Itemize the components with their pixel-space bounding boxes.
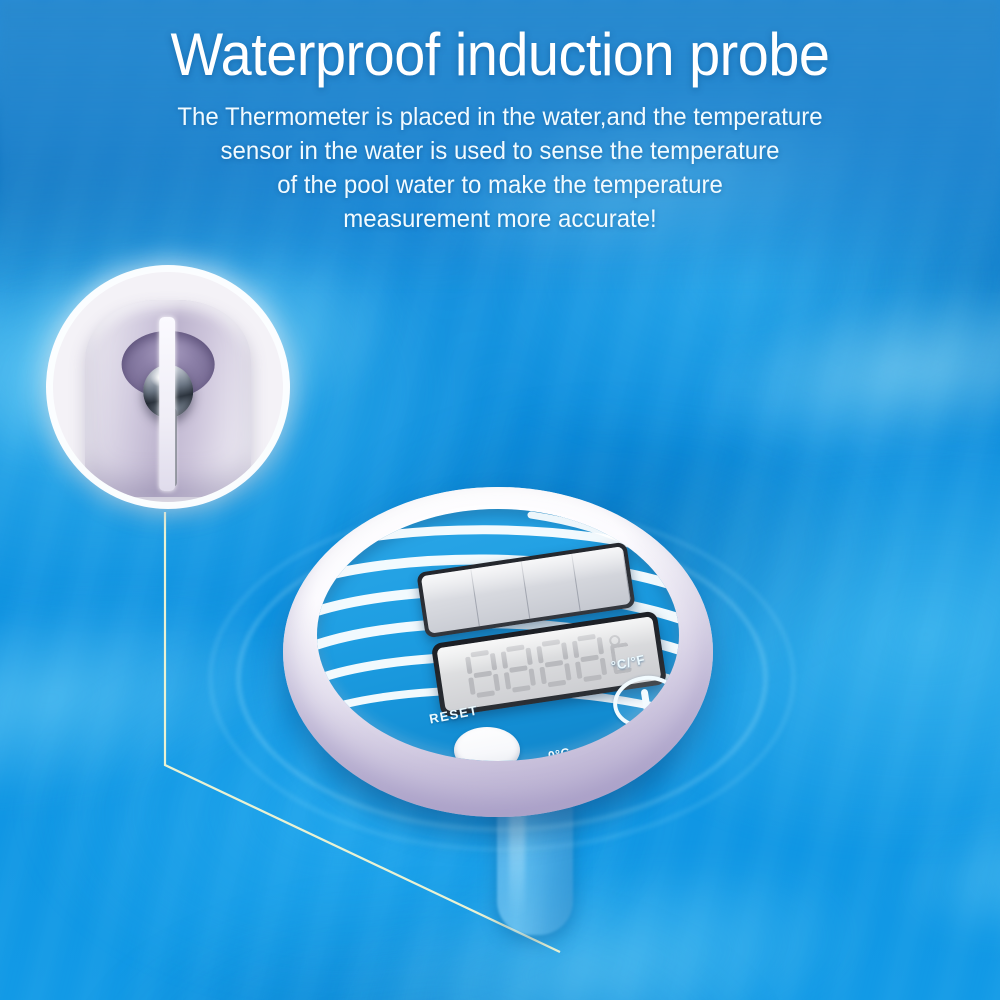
product-feature-image: Waterproof induction probe The Thermomet…: [0, 0, 1000, 1000]
floating-pool-thermometer: RESET 0°C ~ +50°C , 32°F ~ +122°F °C/°F: [283, 487, 713, 817]
page-title: Waterproof induction probe: [35, 22, 965, 88]
description-line-2: sensor in the water is used to sense the…: [135, 134, 865, 168]
description-line-1: The Thermometer is placed in the water,a…: [135, 100, 865, 134]
description-line-3: of the pool water to make the temperatur…: [135, 168, 865, 202]
probe-housing: [85, 300, 251, 498]
description-line-4: measurement more accurate!: [135, 202, 865, 236]
page-description: The Thermometer is placed in the water,a…: [135, 100, 865, 236]
probe-slot: [159, 317, 175, 491]
device-face: RESET 0°C ~ +50°C , 32°F ~ +122°F °C/°F: [317, 509, 679, 761]
magnified-probe-inset: [53, 272, 283, 502]
